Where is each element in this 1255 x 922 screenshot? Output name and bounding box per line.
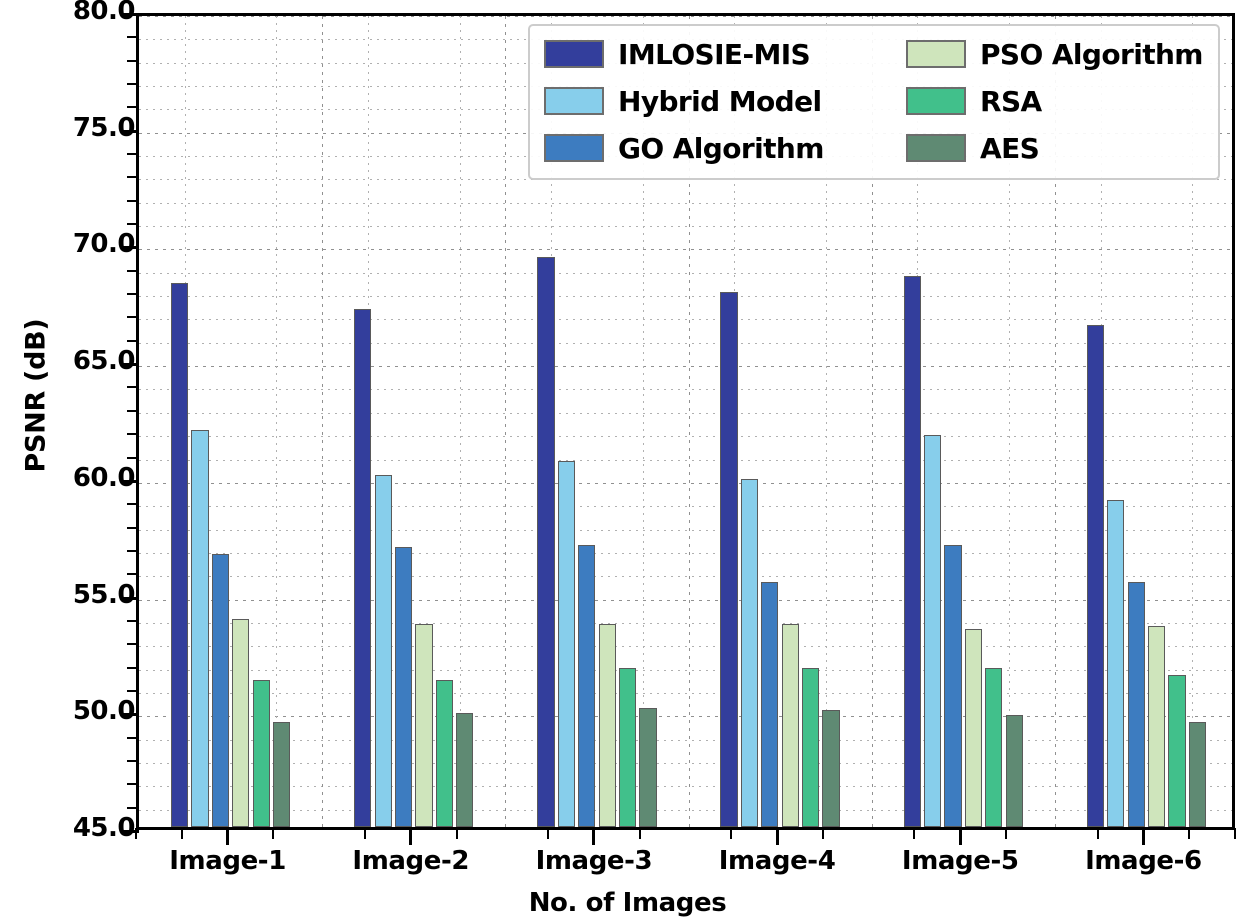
y-tick-label: 75.0 bbox=[15, 113, 135, 143]
bar-hybrid-model-image-2 bbox=[375, 475, 392, 827]
grid-line-horizontal bbox=[139, 483, 1232, 484]
y-tick-minor bbox=[127, 783, 139, 785]
grid-line-horizontal bbox=[139, 740, 1232, 741]
bar-aes-image-2 bbox=[456, 713, 473, 827]
x-tick-label-image-3: Image-3 bbox=[494, 846, 694, 876]
legend-label-hybrid-model: Hybrid Model bbox=[618, 85, 821, 118]
legend-swatch-aes bbox=[906, 134, 966, 162]
legend-swatch-go-algorithm bbox=[544, 134, 604, 162]
x-tick-minor bbox=[1097, 828, 1099, 839]
grid-line-horizontal bbox=[139, 319, 1232, 320]
bar-aes-image-4 bbox=[822, 710, 839, 827]
legend-item-rsa[interactable]: RSA bbox=[906, 82, 1206, 120]
legend-item-imlosie-mis[interactable]: IMLOSIE-MIS bbox=[544, 35, 896, 73]
x-tick-major bbox=[409, 828, 412, 845]
y-tick-minor bbox=[127, 270, 139, 272]
y-tick-minor bbox=[127, 503, 139, 505]
bar-imlosie-mis-image-5 bbox=[904, 276, 921, 827]
grid-line-horizontal bbox=[139, 203, 1232, 204]
y-tick-label: 80.0 bbox=[15, 0, 135, 26]
x-tick-label-image-4: Image-4 bbox=[677, 846, 877, 876]
y-tick-minor bbox=[127, 690, 139, 692]
y-tick-minor bbox=[127, 620, 139, 622]
grid-line-horizontal bbox=[139, 763, 1232, 764]
y-tick-label: 50.0 bbox=[15, 696, 135, 726]
legend-item-go-algorithm[interactable]: GO Algorithm bbox=[544, 129, 896, 167]
legend-swatch-hybrid-model bbox=[544, 87, 604, 115]
legend-swatch-pso-algorithm bbox=[906, 40, 966, 68]
y-tick-label: 60.0 bbox=[15, 463, 135, 493]
bar-rsa-image-3 bbox=[619, 668, 636, 827]
legend-label-aes: AES bbox=[980, 132, 1039, 165]
grid-line-vertical-minor bbox=[460, 16, 461, 827]
bar-imlosie-mis-image-2 bbox=[354, 309, 371, 827]
x-tick-minor bbox=[181, 828, 183, 839]
bar-pso-algorithm-image-6 bbox=[1148, 626, 1165, 827]
grid-line-horizontal bbox=[139, 693, 1232, 694]
y-tick-minor bbox=[127, 36, 139, 38]
legend-swatch-imlosie-mis bbox=[544, 40, 604, 68]
grid-line-horizontal bbox=[139, 716, 1232, 717]
bar-go-algorithm-image-5 bbox=[944, 545, 961, 827]
bar-pso-algorithm-image-4 bbox=[782, 624, 799, 827]
x-tick-minor bbox=[272, 828, 274, 839]
legend-label-rsa: RSA bbox=[980, 85, 1042, 118]
y-tick-minor bbox=[127, 176, 139, 178]
grid-line-horizontal bbox=[139, 460, 1232, 461]
bar-rsa-image-2 bbox=[436, 680, 453, 827]
legend-item-aes[interactable]: AES bbox=[906, 129, 1206, 167]
y-tick-label: 65.0 bbox=[15, 346, 135, 376]
x-axis-title: No. of Images bbox=[0, 888, 1255, 918]
legend-label-pso-algorithm: PSO Algorithm bbox=[980, 38, 1203, 71]
x-tick-major bbox=[226, 828, 229, 845]
bar-pso-algorithm-image-1 bbox=[232, 619, 249, 827]
x-tick-minor bbox=[135, 828, 137, 839]
grid-line-horizontal bbox=[139, 296, 1232, 297]
bar-aes-image-1 bbox=[273, 722, 290, 827]
x-tick-minor bbox=[1188, 828, 1190, 839]
x-tick-minor bbox=[639, 828, 641, 839]
y-tick-minor bbox=[127, 550, 139, 552]
bar-hybrid-model-image-4 bbox=[741, 479, 758, 827]
legend-column-right: PSO Algorithm RSA AES bbox=[906, 35, 1206, 167]
x-tick-major bbox=[776, 828, 779, 845]
x-tick-minor bbox=[822, 828, 824, 839]
grid-line-horizontal bbox=[139, 436, 1232, 437]
y-tick-minor bbox=[127, 153, 139, 155]
grid-line-horizontal bbox=[139, 226, 1232, 227]
legend-label-go-algorithm: GO Algorithm bbox=[618, 132, 824, 165]
bar-pso-algorithm-image-2 bbox=[415, 624, 432, 827]
bar-imlosie-mis-image-1 bbox=[171, 283, 188, 827]
x-tick-minor bbox=[1234, 828, 1236, 839]
bar-hybrid-model-image-3 bbox=[558, 461, 575, 827]
bar-go-algorithm-image-1 bbox=[212, 554, 229, 827]
x-tick-minor bbox=[456, 828, 458, 839]
bar-aes-image-6 bbox=[1189, 722, 1206, 827]
legend-item-hybrid-model[interactable]: Hybrid Model bbox=[544, 82, 896, 120]
x-tick-minor bbox=[364, 828, 366, 839]
bar-imlosie-mis-image-6 bbox=[1087, 325, 1104, 827]
bar-go-algorithm-image-4 bbox=[761, 582, 778, 827]
y-tick-minor bbox=[127, 737, 139, 739]
bar-rsa-image-5 bbox=[985, 668, 1002, 827]
y-tick-minor bbox=[127, 807, 139, 809]
y-tick-label: 55.0 bbox=[15, 580, 135, 610]
y-tick-minor bbox=[127, 410, 139, 412]
y-tick-label: 70.0 bbox=[15, 229, 135, 259]
legend: IMLOSIE-MIS Hybrid Model GO Algorithm PS… bbox=[528, 24, 1220, 180]
y-tick-minor bbox=[127, 60, 139, 62]
grid-line-horizontal bbox=[139, 366, 1232, 367]
bar-pso-algorithm-image-3 bbox=[599, 624, 616, 827]
grid-line-horizontal bbox=[139, 343, 1232, 344]
y-tick-minor bbox=[127, 433, 139, 435]
legend-item-pso-algorithm[interactable]: PSO Algorithm bbox=[906, 35, 1206, 73]
x-tick-minor bbox=[547, 828, 549, 839]
bar-imlosie-mis-image-4 bbox=[720, 292, 737, 827]
x-tick-minor bbox=[730, 828, 732, 839]
x-tick-label-image-6: Image-6 bbox=[1043, 846, 1243, 876]
y-tick-minor bbox=[127, 386, 139, 388]
grid-line-horizontal bbox=[139, 273, 1232, 274]
grid-line-horizontal bbox=[139, 646, 1232, 647]
y-tick-minor bbox=[127, 457, 139, 459]
grid-line-horizontal bbox=[139, 600, 1232, 601]
grid-line-horizontal bbox=[139, 623, 1232, 624]
y-tick-minor bbox=[127, 293, 139, 295]
x-tick-major bbox=[959, 828, 962, 845]
y-tick-minor bbox=[127, 223, 139, 225]
grid-line-horizontal bbox=[139, 576, 1232, 577]
y-tick-minor bbox=[127, 200, 139, 202]
grid-line-horizontal bbox=[139, 413, 1232, 414]
grid-line-horizontal bbox=[139, 786, 1232, 787]
bar-rsa-image-6 bbox=[1168, 675, 1185, 827]
y-tick-minor bbox=[127, 340, 139, 342]
bar-hybrid-model-image-6 bbox=[1107, 500, 1124, 827]
grid-line-horizontal bbox=[139, 530, 1232, 531]
x-tick-minor bbox=[913, 828, 915, 839]
grid-line-horizontal bbox=[139, 506, 1232, 507]
x-tick-label-image-1: Image-1 bbox=[128, 846, 328, 876]
x-tick-minor bbox=[1005, 828, 1007, 839]
bar-aes-image-5 bbox=[1006, 715, 1023, 827]
bar-imlosie-mis-image-3 bbox=[537, 257, 554, 827]
bar-rsa-image-4 bbox=[802, 668, 819, 827]
y-tick-minor bbox=[127, 83, 139, 85]
grid-line-vertical-minor bbox=[276, 16, 277, 827]
grid-line-horizontal bbox=[139, 670, 1232, 671]
bar-rsa-image-1 bbox=[253, 680, 270, 827]
grid-line-horizontal bbox=[139, 810, 1232, 811]
grid-line-horizontal bbox=[139, 249, 1232, 250]
psnr-bar-chart-figure: PSNR (dB) 45.050.055.060.065.070.075.080… bbox=[0, 0, 1255, 922]
x-tick-major bbox=[592, 828, 595, 845]
grid-line-vertical bbox=[505, 16, 506, 827]
bar-go-algorithm-image-6 bbox=[1128, 582, 1145, 827]
bar-aes-image-3 bbox=[639, 708, 656, 827]
bar-pso-algorithm-image-5 bbox=[965, 629, 982, 827]
legend-label-imlosie-mis: IMLOSIE-MIS bbox=[618, 38, 810, 71]
x-tick-label-image-5: Image-5 bbox=[860, 846, 1060, 876]
y-tick-minor bbox=[127, 760, 139, 762]
legend-swatch-rsa bbox=[906, 87, 966, 115]
bar-go-algorithm-image-3 bbox=[578, 545, 595, 827]
y-tick-minor bbox=[127, 643, 139, 645]
grid-line-horizontal bbox=[139, 389, 1232, 390]
grid-line-horizontal bbox=[139, 553, 1232, 554]
x-tick-major bbox=[1142, 828, 1145, 845]
y-tick-minor bbox=[127, 527, 139, 529]
grid-line-horizontal bbox=[139, 16, 1232, 17]
grid-line-vertical bbox=[322, 16, 323, 827]
x-tick-label-image-2: Image-2 bbox=[311, 846, 511, 876]
y-tick-minor bbox=[127, 573, 139, 575]
y-tick-minor bbox=[127, 106, 139, 108]
legend-column-left: IMLOSIE-MIS Hybrid Model GO Algorithm bbox=[544, 35, 896, 167]
y-tick-label: 45.0 bbox=[15, 813, 135, 843]
bar-hybrid-model-image-1 bbox=[191, 430, 208, 827]
bar-go-algorithm-image-2 bbox=[395, 547, 412, 827]
y-tick-minor bbox=[127, 667, 139, 669]
bar-hybrid-model-image-5 bbox=[924, 435, 941, 827]
y-tick-minor bbox=[127, 316, 139, 318]
